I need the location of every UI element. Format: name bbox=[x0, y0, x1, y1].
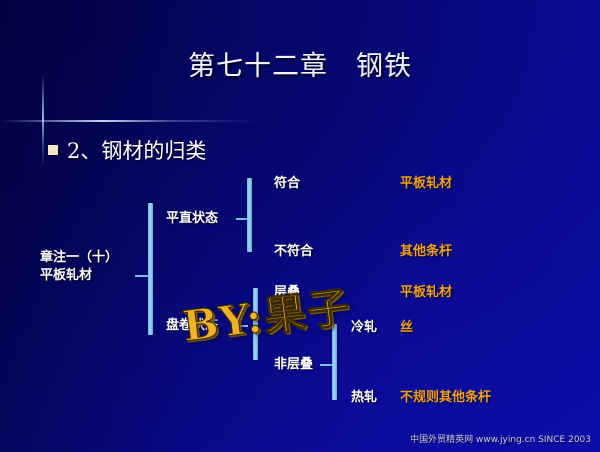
sub-branch-label-nonconform: 不符合 bbox=[274, 244, 313, 259]
watermark-text: BY:果子 bbox=[179, 273, 354, 354]
brace-level1 bbox=[148, 203, 153, 335]
subtitle-text: 2、钢材的归类 bbox=[67, 135, 206, 165]
sub-branch-label-layered: 层叠 bbox=[274, 285, 300, 300]
branch-label-coiled: 盘卷状态 bbox=[166, 318, 218, 333]
connector-coiled bbox=[236, 325, 248, 327]
brace-rolling-branch bbox=[332, 324, 337, 400]
result-wire: 丝 bbox=[400, 320, 413, 335]
brace-coiled-branch bbox=[253, 288, 258, 360]
sub-branch-label-conform: 符合 bbox=[274, 176, 300, 191]
diagram-root-line1: 章注一（十） bbox=[40, 250, 118, 265]
result-irregular-other-bars: 不规则其他条杆 bbox=[400, 390, 491, 405]
result-flat-rolled-2: 平板轧材 bbox=[400, 285, 452, 300]
slide-title: 第七十二章 钢铁 bbox=[0, 44, 600, 83]
connector-nonlayered bbox=[320, 364, 332, 366]
connector-root bbox=[135, 275, 149, 277]
leaf-condition-hot-rolled: 热轧 bbox=[351, 390, 377, 405]
result-other-bars: 其他条杆 bbox=[400, 244, 452, 259]
branch-label-flat: 平直状态 bbox=[166, 211, 218, 226]
divider-horizontal-line bbox=[0, 120, 258, 122]
divider-vertical-line bbox=[42, 76, 44, 168]
result-flat-rolled-1: 平板轧材 bbox=[400, 176, 452, 191]
leaf-condition-cold-rolled: 冷轧 bbox=[351, 320, 377, 335]
sub-branch-label-nonlayered: 非层叠 bbox=[274, 357, 313, 372]
footer-credit: 中国外贸精英网 www.jying.cn SINCE 2003 bbox=[410, 432, 591, 445]
brace-flat-branch bbox=[247, 178, 252, 252]
square-bullet-icon bbox=[48, 145, 58, 155]
subtitle-row: 2、钢材的归类 bbox=[48, 135, 206, 165]
slide-canvas: 第七十二章 钢铁 2、钢材的归类 章注一（十） 平板轧材 平直状态 盘卷状态 符… bbox=[0, 0, 600, 452]
diagram-root-line2: 平板轧材 bbox=[40, 268, 92, 283]
